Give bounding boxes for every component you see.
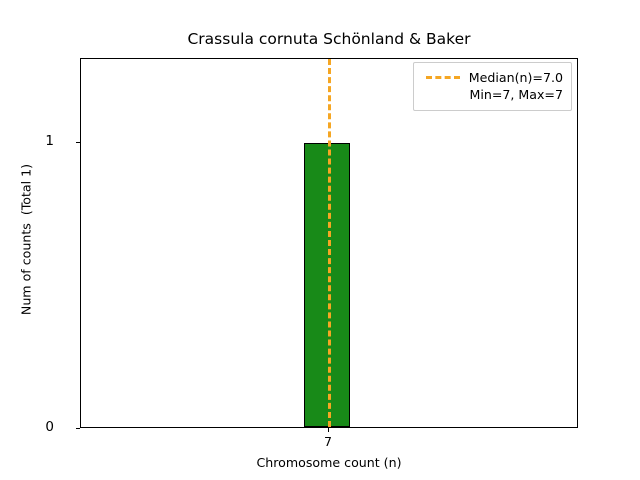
ytick-label-0: 0 bbox=[45, 421, 54, 435]
bar-chromosome-7[interactable] bbox=[304, 143, 350, 427]
legend[interactable]: Median(n)=7.0 Min=7, Max=7 bbox=[413, 62, 572, 111]
ytick-mark-0 bbox=[76, 428, 80, 429]
y-axis-label: Num of counts (Total 1) bbox=[19, 15, 34, 465]
x-axis-label: Chromosome count (n) bbox=[80, 455, 578, 470]
xtick-mark-7 bbox=[328, 428, 329, 432]
xtick-label-7: 7 bbox=[298, 434, 358, 449]
legend-label-median: Median(n)=7.0 bbox=[469, 70, 563, 85]
ytick-label-1: 1 bbox=[45, 135, 54, 149]
legend-entry-median: Median(n)=7.0 bbox=[422, 69, 563, 86]
legend-label-minmax: Min=7, Max=7 bbox=[469, 87, 563, 102]
median-line bbox=[328, 59, 331, 427]
plot-area bbox=[80, 58, 578, 428]
ytick-mark-1 bbox=[76, 142, 80, 143]
chart-title: Crassula cornuta Schönland & Baker bbox=[80, 30, 578, 48]
chromosome-count-chart: Crassula cornuta Schönland & Baker 0 1 N… bbox=[0, 0, 640, 480]
bars-layer bbox=[81, 59, 577, 427]
y-axis-label-text: Num of counts (Total 1) bbox=[19, 164, 34, 315]
legend-entry-minmax: Min=7, Max=7 bbox=[422, 86, 563, 103]
dashed-line-icon bbox=[426, 76, 460, 79]
